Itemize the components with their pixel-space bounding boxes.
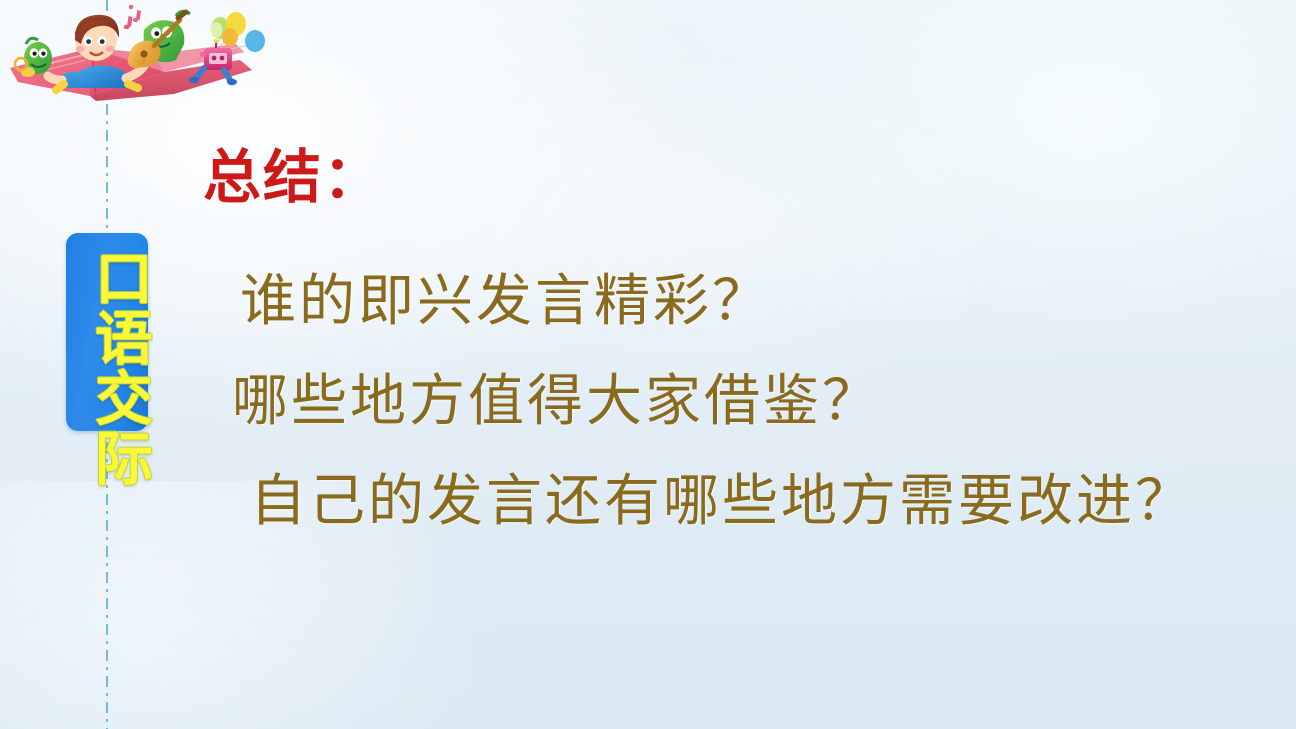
slide-canvas: 口语交际 总结： 谁的即兴发言精彩？ 哪些地方值得大家借鉴？ 自己的发言还有哪些… bbox=[0, 0, 1296, 729]
question-line-3: 自己的发言还有哪些地方需要改进？ bbox=[250, 474, 1252, 530]
music-notes-icon bbox=[124, 5, 141, 29]
question-list: 谁的即兴发言精彩？ 哪些地方值得大家借鉴？ 自己的发言还有哪些地方需要改进？ bbox=[232, 274, 1252, 530]
question-line-2: 哪些地方值得大家借鉴？ bbox=[232, 374, 1252, 430]
boy-on-flying-book-illustration bbox=[4, 0, 296, 105]
page-title: 总结： bbox=[203, 148, 383, 206]
side-label-text: 口语交际 bbox=[66, 238, 148, 498]
question-line-1: 谁的即兴发言精彩？ bbox=[240, 274, 1252, 330]
